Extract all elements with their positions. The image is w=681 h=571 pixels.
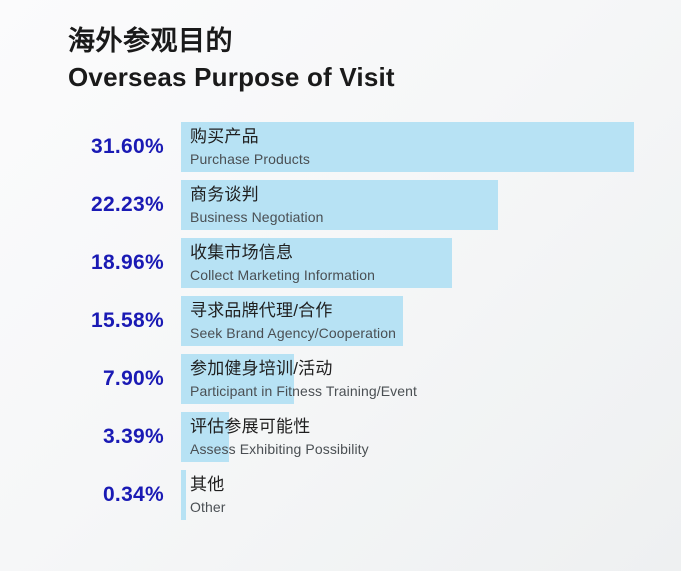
page-title: 海外参观目的 Overseas Purpose of Visit bbox=[68, 24, 628, 93]
bar-track: 参加健身培训/活动 Participant in Fitness Trainin… bbox=[181, 354, 681, 404]
bar-chart: 31.60% 购买产品 Purchase Products 22.23% 商务谈… bbox=[0, 122, 681, 528]
category-label-english: Other bbox=[190, 498, 226, 516]
bar-labels: 其他 Other bbox=[190, 470, 226, 520]
title-english: Overseas Purpose of Visit bbox=[68, 61, 628, 94]
bar-track: 寻求品牌代理/合作 Seek Brand Agency/Cooperation bbox=[181, 296, 681, 346]
bar-fill bbox=[181, 354, 294, 404]
value-label: 18.96% bbox=[0, 238, 164, 288]
chart-row: 31.60% 购买产品 Purchase Products bbox=[0, 122, 681, 172]
bar-fill bbox=[181, 470, 186, 520]
bar-track: 收集市场信息 Collect Marketing Information bbox=[181, 238, 681, 288]
bar-track: 商务谈判 Business Negotiation bbox=[181, 180, 681, 230]
bar-track: 评估参展可能性 Assess Exhibiting Possibility bbox=[181, 412, 681, 462]
bar-fill bbox=[181, 296, 403, 346]
value-label: 15.58% bbox=[0, 296, 164, 346]
chart-row: 7.90% 参加健身培训/活动 Participant in Fitness T… bbox=[0, 354, 681, 404]
value-label: 7.90% bbox=[0, 354, 164, 404]
value-label: 31.60% bbox=[0, 122, 164, 172]
chart-row: 18.96% 收集市场信息 Collect Marketing Informat… bbox=[0, 238, 681, 288]
chart-row: 15.58% 寻求品牌代理/合作 Seek Brand Agency/Coope… bbox=[0, 296, 681, 346]
chart-page: 海外参观目的 Overseas Purpose of Visit 31.60% … bbox=[0, 0, 681, 571]
title-chinese: 海外参观目的 bbox=[68, 24, 628, 59]
chart-row: 0.34% 其他 Other bbox=[0, 470, 681, 520]
bar-track: 其他 Other bbox=[181, 470, 681, 520]
value-label: 22.23% bbox=[0, 180, 164, 230]
bar-fill bbox=[181, 180, 498, 230]
value-label: 0.34% bbox=[0, 470, 164, 520]
value-label: 3.39% bbox=[0, 412, 164, 462]
chart-row: 3.39% 评估参展可能性 Assess Exhibiting Possibil… bbox=[0, 412, 681, 462]
bar-fill bbox=[181, 412, 229, 462]
bar-fill bbox=[181, 122, 634, 172]
bar-track: 购买产品 Purchase Products bbox=[181, 122, 681, 172]
chart-row: 22.23% 商务谈判 Business Negotiation bbox=[0, 180, 681, 230]
category-label-chinese: 其他 bbox=[190, 474, 226, 497]
bar-fill bbox=[181, 238, 452, 288]
